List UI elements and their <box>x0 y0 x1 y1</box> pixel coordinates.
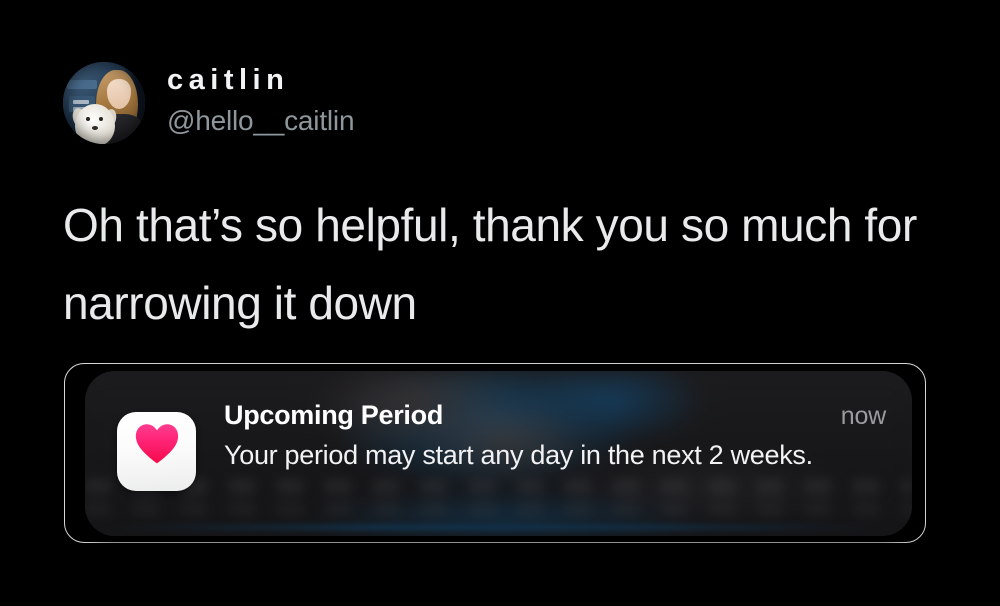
post-text: Oh that’s so helpful, thank you so much … <box>63 186 923 342</box>
display-name[interactable]: caitlin <box>167 64 354 97</box>
health-heart-icon[interactable] <box>117 412 196 491</box>
tweet-screenshot: caitlin @hello__caitlin Oh that’s so hel… <box>0 0 1000 606</box>
avatar-vignette <box>63 62 145 144</box>
notification-body: Your period may start any day in the nex… <box>224 436 849 474</box>
avatar[interactable] <box>63 62 145 144</box>
notification-content: Upcoming Period now Your period may star… <box>85 371 912 536</box>
notification-timestamp: now <box>825 402 886 431</box>
notification-text-block: Upcoming Period now Your period may star… <box>196 399 886 474</box>
author-names: caitlin @hello__caitlin <box>167 64 354 141</box>
notification-title: Upcoming Period <box>224 401 443 431</box>
notification-banner[interactable]: Upcoming Period now Your period may star… <box>85 371 912 536</box>
post-header: caitlin @hello__caitlin <box>63 62 354 144</box>
notification-title-row: Upcoming Period now <box>224 401 886 431</box>
user-handle[interactable]: @hello__caitlin <box>167 100 354 142</box>
